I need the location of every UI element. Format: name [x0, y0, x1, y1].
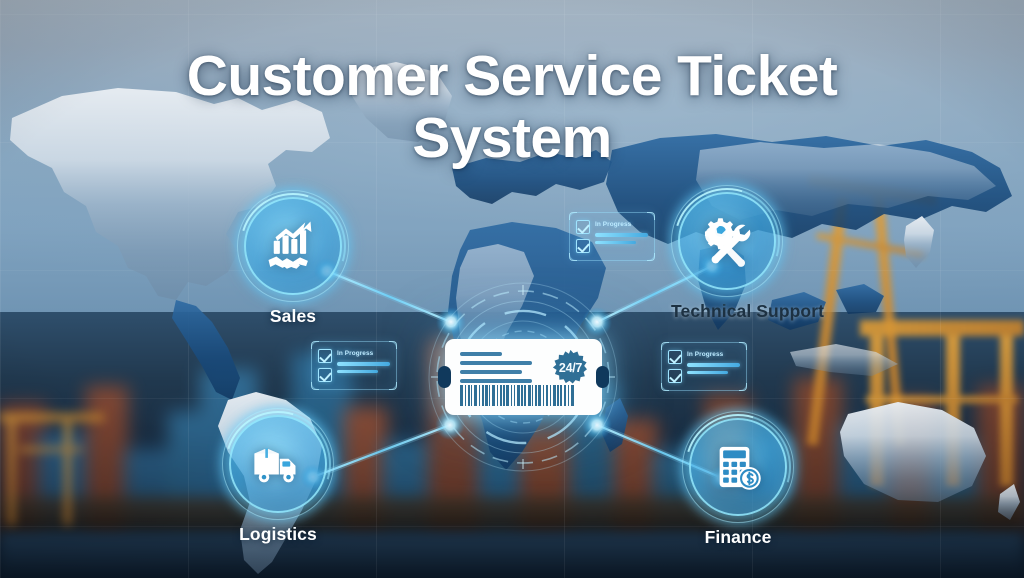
node-logistics[interactable]: Logistics	[222, 415, 334, 545]
node-label: Finance	[682, 527, 794, 548]
status-label: In Progress	[687, 351, 740, 359]
card-rows: In Progress	[337, 349, 390, 383]
ticket-card: 24/7	[445, 339, 602, 415]
status-label: In Progress	[595, 221, 648, 229]
node-orb	[678, 192, 776, 290]
gear-wrench-icon	[678, 192, 776, 290]
node-orb	[229, 415, 327, 513]
node-orb	[689, 418, 787, 516]
card-rows: In Progress	[595, 220, 648, 254]
node-label: Logistics	[222, 524, 334, 545]
checkbox-checked[interactable]	[668, 350, 682, 364]
node-sales[interactable]: Sales	[237, 197, 349, 327]
ticket-text-lines	[460, 352, 532, 388]
status-label: In Progress	[337, 350, 390, 358]
card-rows: In Progress	[687, 350, 740, 384]
node-label: Sales	[237, 306, 349, 327]
twentyfour-seven-badge: 24/7	[552, 349, 589, 386]
checkbox-group	[668, 350, 682, 384]
calculator-dollar-icon	[689, 418, 787, 516]
checkbox-checked[interactable]	[668, 369, 682, 383]
checkbox-checked[interactable]	[318, 368, 332, 382]
checkbox-checked[interactable]	[576, 220, 590, 234]
status-card-right[interactable]: In Progress	[661, 342, 747, 391]
badge-text: 24/7	[559, 361, 582, 375]
node-finance[interactable]: Finance	[682, 418, 794, 548]
node-label: Technical Support	[671, 301, 783, 322]
checkbox-checked[interactable]	[576, 239, 590, 253]
node-technical-support[interactable]: Technical Support	[671, 192, 783, 322]
node-orb	[244, 197, 342, 295]
checkbox-group	[576, 220, 590, 254]
checkbox-checked[interactable]	[318, 349, 332, 363]
banner-stage: Customer Service Ticket System	[0, 0, 1024, 578]
checkbox-group	[318, 349, 332, 383]
page-title: Customer Service Ticket System	[0, 46, 1024, 169]
growth-handshake-icon	[244, 197, 342, 295]
status-card-upper[interactable]: In Progress	[569, 212, 655, 261]
central-ticket-hub[interactable]: 24/7	[427, 281, 619, 473]
delivery-truck-icon	[229, 415, 327, 513]
barcode	[460, 385, 589, 406]
status-card-left[interactable]: In Progress	[311, 341, 397, 390]
